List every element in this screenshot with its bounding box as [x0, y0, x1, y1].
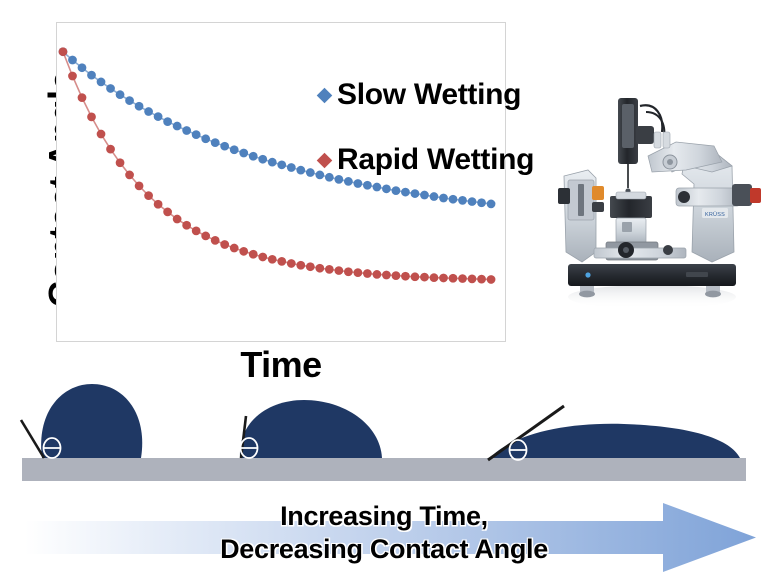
data-point	[392, 271, 401, 280]
data-point	[373, 183, 382, 192]
data-point	[144, 191, 153, 200]
data-point	[477, 275, 486, 284]
data-point	[277, 257, 286, 266]
data-point	[230, 244, 239, 253]
legend-label-slow-wetting: Slow Wetting	[337, 78, 521, 112]
data-point	[268, 158, 277, 167]
slide-canvas: Contact Angle Slow Wetting Rapid Wetting…	[0, 0, 768, 576]
data-point	[287, 163, 296, 172]
data-point	[449, 274, 458, 283]
data-point	[125, 96, 134, 105]
data-point	[192, 130, 201, 139]
data-point	[192, 227, 201, 236]
data-point	[59, 47, 68, 56]
arrow-caption-line1: Increasing Time,	[0, 500, 768, 533]
data-point	[430, 273, 439, 282]
data-point	[87, 112, 96, 121]
chart-series-svg	[57, 23, 505, 341]
arrow-caption: Increasing Time, Decreasing Contact Angl…	[0, 500, 768, 566]
data-point	[315, 264, 324, 273]
data-point	[154, 200, 163, 209]
chart-plot-area: Slow Wetting Rapid Wetting	[56, 22, 506, 342]
data-point	[135, 181, 144, 190]
series-slow-wetting	[59, 47, 496, 208]
data-point	[220, 240, 229, 249]
data-point	[106, 145, 115, 154]
data-point	[268, 255, 277, 264]
data-point	[258, 253, 267, 262]
data-point	[296, 166, 305, 175]
data-point	[211, 236, 220, 245]
data-point	[344, 177, 353, 186]
data-point	[154, 112, 163, 121]
data-point	[144, 107, 153, 116]
data-point	[211, 138, 220, 147]
data-point	[458, 274, 467, 283]
data-point	[430, 192, 439, 201]
data-point	[116, 158, 125, 167]
data-point	[68, 72, 77, 81]
data-point	[401, 272, 410, 281]
arrow-caption-line2: Decreasing Contact Angle	[0, 533, 768, 566]
data-point	[239, 247, 248, 256]
data-point	[97, 130, 106, 139]
data-point	[182, 126, 191, 135]
data-point	[220, 142, 229, 151]
data-point	[173, 122, 182, 131]
data-point	[201, 232, 210, 241]
data-point	[439, 194, 448, 203]
legend-item-rapid-wetting[interactable]: Rapid Wetting	[319, 143, 534, 177]
data-point	[411, 272, 420, 281]
data-point	[382, 271, 391, 280]
diamond-marker-rapid-wetting	[317, 152, 333, 168]
data-point	[287, 259, 296, 268]
contact-angle-chart: Contact Angle Slow Wetting Rapid Wetting…	[0, 8, 520, 388]
data-point	[353, 179, 362, 188]
data-point	[487, 200, 496, 209]
data-point	[458, 196, 467, 205]
droplet-diagram-svg	[0, 376, 768, 494]
data-point	[363, 269, 372, 278]
droplet-wetting-diagram	[0, 376, 768, 494]
data-point	[477, 198, 486, 207]
data-point	[373, 270, 382, 279]
data-point	[363, 181, 372, 190]
data-point	[97, 78, 106, 87]
data-point	[239, 149, 248, 158]
droplet-medium-angle	[240, 400, 382, 458]
droplet-low-angle	[488, 406, 740, 460]
data-point	[87, 71, 96, 80]
data-point	[353, 268, 362, 277]
data-point	[306, 262, 315, 271]
data-point	[173, 215, 182, 224]
data-point	[487, 275, 496, 284]
data-point	[201, 134, 210, 143]
data-point	[392, 186, 401, 195]
data-point	[420, 191, 429, 200]
data-point	[163, 117, 172, 126]
data-point	[468, 274, 477, 283]
data-point	[249, 152, 258, 161]
data-point	[125, 171, 134, 180]
legend-label-rapid-wetting: Rapid Wetting	[337, 143, 534, 177]
data-point	[106, 84, 115, 93]
data-point	[182, 221, 191, 230]
data-point	[439, 274, 448, 283]
instrument-brand-text: KRÜSS	[705, 211, 725, 218]
data-point	[135, 102, 144, 111]
goniometer-illustration: KRÜSS	[536, 92, 768, 324]
data-point	[344, 267, 353, 276]
data-point	[277, 160, 286, 169]
goniometer-instrument-image: KRÜSS	[536, 92, 768, 324]
time-progression-arrow: Increasing Time, Decreasing Contact Angl…	[0, 498, 768, 576]
data-point	[230, 145, 239, 154]
legend-item-slow-wetting[interactable]: Slow Wetting	[319, 78, 521, 112]
data-point	[468, 197, 477, 206]
data-point	[68, 56, 77, 65]
substrate-surface	[22, 458, 746, 481]
data-point	[382, 184, 391, 193]
data-point	[258, 155, 267, 164]
data-point	[116, 90, 125, 99]
series-line	[63, 52, 491, 204]
data-point	[306, 168, 315, 177]
data-point	[411, 189, 420, 198]
data-point	[420, 273, 429, 282]
data-point	[334, 266, 343, 275]
data-point	[449, 195, 458, 204]
data-point	[163, 208, 172, 217]
data-point	[78, 93, 87, 102]
data-point	[401, 188, 410, 197]
droplet-high-angle	[21, 384, 142, 458]
data-point	[249, 250, 258, 259]
data-point	[78, 63, 87, 72]
data-point	[296, 261, 305, 270]
data-point	[325, 265, 334, 274]
diamond-marker-slow-wetting	[317, 87, 333, 103]
